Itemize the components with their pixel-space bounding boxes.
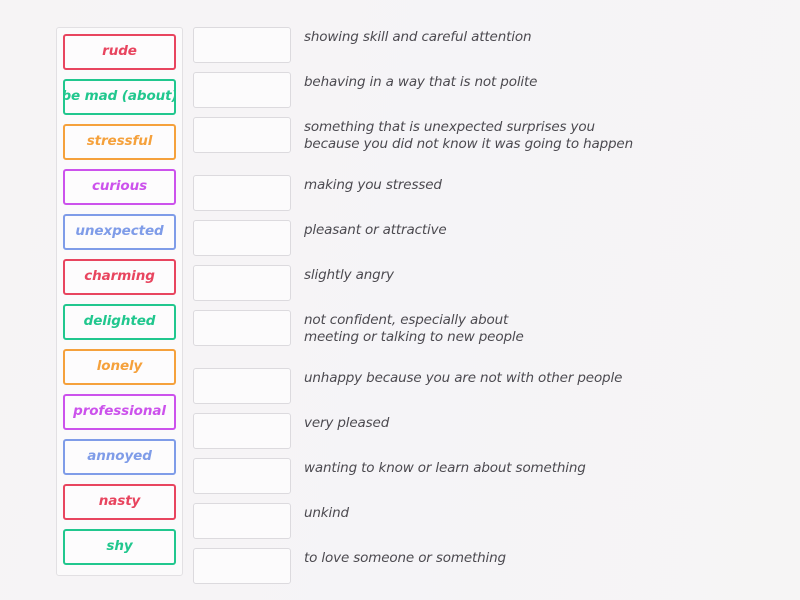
definition-row: very pleased (193, 413, 389, 449)
word-tile[interactable]: delighted (63, 304, 176, 340)
answer-dropzone[interactable] (193, 175, 291, 211)
definition-text: not confident, especially about meeting … (304, 310, 524, 346)
answer-dropzone[interactable] (193, 368, 291, 404)
word-tile-label: delighted (84, 315, 156, 329)
answer-dropzone[interactable] (193, 503, 291, 539)
word-tile[interactable]: annoyed (63, 439, 176, 475)
word-tile-label: rude (102, 45, 137, 59)
word-tile[interactable]: stressful (63, 124, 176, 160)
definition-row: wanting to know or learn about something (193, 458, 586, 494)
word-tile[interactable]: shy (63, 529, 176, 565)
definition-text: showing skill and careful attention (304, 27, 531, 46)
word-tile[interactable]: lonely (63, 349, 176, 385)
answer-dropzone[interactable] (193, 548, 291, 584)
definition-row: something that is unexpected surprises y… (193, 117, 633, 153)
word-tile[interactable]: rude (63, 34, 176, 70)
word-tile-label: lonely (97, 360, 143, 374)
definition-row: making you stressed (193, 175, 442, 211)
definition-text: something that is unexpected surprises y… (304, 117, 633, 153)
answer-dropzone[interactable] (193, 310, 291, 346)
word-tile-label: annoyed (87, 450, 152, 464)
answer-dropzone[interactable] (193, 265, 291, 301)
word-tile-label: charming (84, 270, 155, 284)
word-tile[interactable]: charming (63, 259, 176, 295)
definition-text: very pleased (304, 413, 389, 432)
answer-dropzone[interactable] (193, 27, 291, 63)
word-tile[interactable]: professional (63, 394, 176, 430)
definition-row: not confident, especially about meeting … (193, 310, 524, 346)
definition-row: slightly angry (193, 265, 394, 301)
definition-text: behaving in a way that is not polite (304, 72, 537, 91)
definition-row: showing skill and careful attention (193, 27, 531, 63)
word-tile-label: stressful (87, 135, 153, 149)
answer-dropzone[interactable] (193, 413, 291, 449)
word-tile-label: shy (106, 540, 132, 554)
definition-text: unhappy because you are not with other p… (304, 368, 622, 387)
answer-dropzone[interactable] (193, 458, 291, 494)
definition-text: making you stressed (304, 175, 442, 194)
word-tile[interactable]: be mad (about) (63, 79, 176, 115)
definition-text: slightly angry (304, 265, 394, 284)
definition-row: to love someone or something (193, 548, 506, 584)
word-tile-label: professional (73, 405, 166, 419)
word-tile[interactable]: curious (63, 169, 176, 205)
definition-row: unhappy because you are not with other p… (193, 368, 622, 404)
definition-text: unkind (304, 503, 349, 522)
answer-dropzone[interactable] (193, 72, 291, 108)
definition-row: unkind (193, 503, 349, 539)
match-up-activity: rudebe mad (about)stressfulcuriousunexpe… (0, 0, 800, 600)
answer-dropzone[interactable] (193, 220, 291, 256)
definition-text: wanting to know or learn about something (304, 458, 586, 477)
word-tile-label: be mad (about) (63, 90, 176, 104)
definition-text: to love someone or something (304, 548, 506, 567)
word-tile[interactable]: unexpected (63, 214, 176, 250)
definition-row: pleasant or attractive (193, 220, 447, 256)
word-tile-label: nasty (99, 495, 141, 509)
word-tile-label: unexpected (75, 225, 163, 239)
word-tile[interactable]: nasty (63, 484, 176, 520)
word-tile-label: curious (92, 180, 147, 194)
word-tiles-panel: rudebe mad (about)stressfulcuriousunexpe… (56, 27, 183, 576)
definition-text: pleasant or attractive (304, 220, 447, 239)
definition-row: behaving in a way that is not polite (193, 72, 537, 108)
answer-dropzone[interactable] (193, 117, 291, 153)
